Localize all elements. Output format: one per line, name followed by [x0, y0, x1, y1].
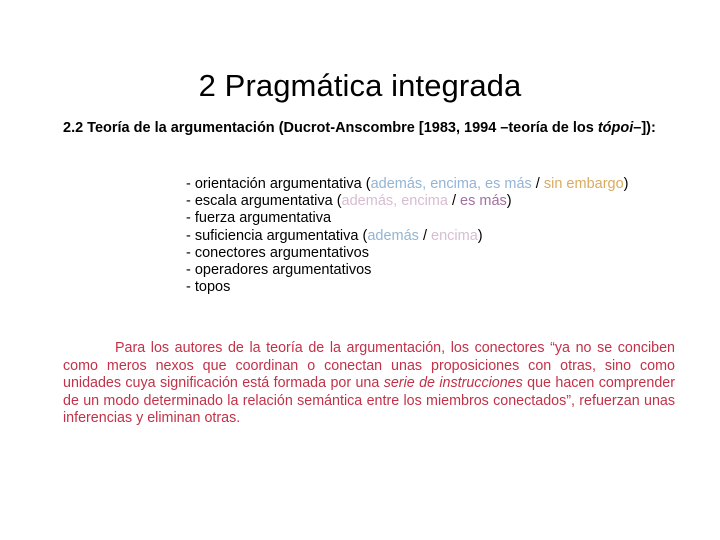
list-item-label: conectores argumentativos [195, 245, 369, 261]
list-item-dash: - [186, 245, 195, 261]
list-item: - escala argumentativa (además, encima /… [186, 193, 686, 210]
list-item: - conectores argumentativos [186, 245, 686, 262]
section-subtitle: 2.2 Teoría de la argumentación (Ducrot-A… [63, 119, 675, 138]
example-term: además [367, 228, 419, 244]
list-item-dash: - [186, 176, 195, 192]
example-separator: / [532, 176, 544, 192]
example-term: encima [431, 228, 478, 244]
list-item-close-paren: ) [478, 228, 483, 244]
quote-paragraph: Para los autores de la teoría de la argu… [63, 340, 675, 427]
bullet-list: - orientación argumentativa (además, enc… [186, 176, 686, 296]
list-item-open-paren: ( [362, 176, 371, 192]
list-item-label: topos [195, 279, 230, 295]
list-item-dash: - [186, 279, 195, 295]
list-item-dash: - [186, 210, 195, 226]
subtitle-text-after: –]): [633, 120, 656, 136]
list-item-label: fuerza argumentativa [195, 210, 331, 226]
list-item-open-paren: ( [333, 193, 342, 209]
list-item-open-paren: ( [358, 228, 367, 244]
list-item: - fuerza argumentativa [186, 210, 686, 227]
list-item-dash: - [186, 262, 195, 278]
subtitle-text-before: 2.2 Teoría de la argumentación (Ducrot-A… [63, 120, 598, 136]
list-item-label: suficiencia argumentativa [195, 228, 359, 244]
example-separator: / [419, 228, 431, 244]
page-title: 2 Pragmática integrada [0, 69, 720, 103]
slide-canvas: 2 Pragmática integrada 2.2 Teoría de la … [0, 0, 720, 540]
example-term: sin embargo [544, 176, 624, 192]
list-item: - topos [186, 279, 686, 296]
list-item-label: orientación argumentativa [195, 176, 362, 192]
list-item-label: escala argumentativa [195, 193, 333, 209]
list-item-dash: - [186, 228, 195, 244]
list-item: - orientación argumentativa (además, enc… [186, 176, 686, 193]
subtitle-italic-term: tópoi [598, 120, 633, 136]
list-item: - operadores argumentativos [186, 262, 686, 279]
list-item-label: operadores argumentativos [195, 262, 372, 278]
list-item: - suficiencia argumentativa (además / en… [186, 228, 686, 245]
example-term: es más [460, 193, 507, 209]
example-separator: / [448, 193, 460, 209]
quote-italic-term: serie de instrucciones [384, 375, 523, 391]
example-term: además, encima [342, 193, 448, 209]
list-item-close-paren: ) [507, 193, 512, 209]
list-item-dash: - [186, 193, 195, 209]
example-term: además, encima, es más [371, 176, 532, 192]
list-item-close-paren: ) [624, 176, 629, 192]
